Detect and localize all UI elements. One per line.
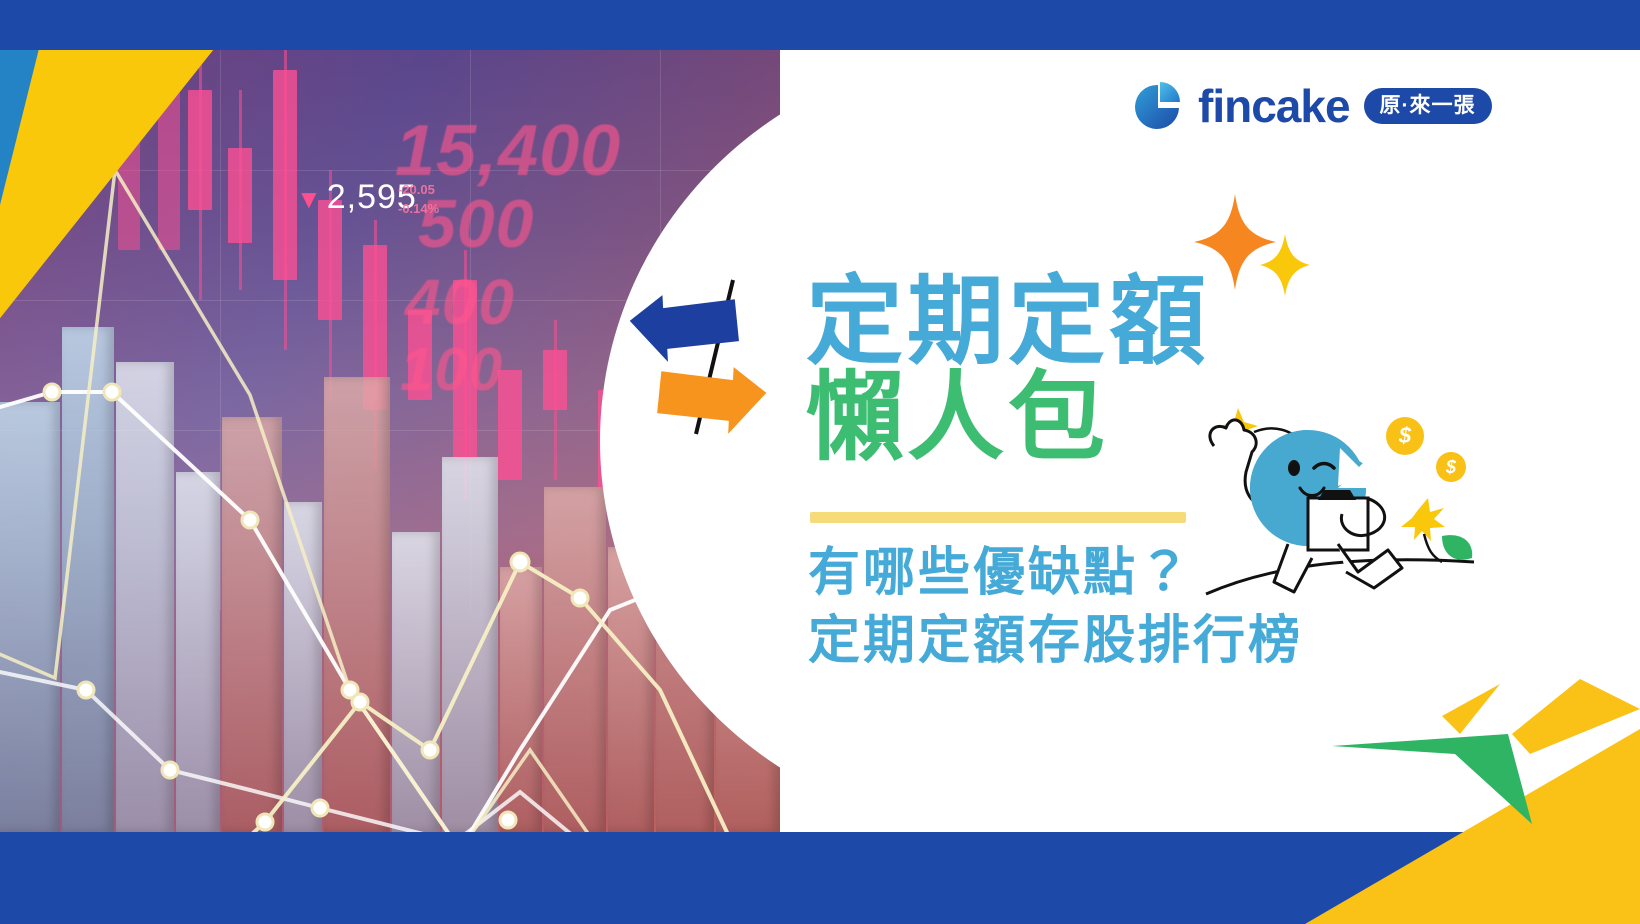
fincake-badge: 原·來一張 — [1364, 88, 1492, 124]
fincake-logo-mark-icon — [1128, 78, 1184, 134]
banner-canvas: 15,400 500 400 100 ▼2,595 -20.05 -0.14% — [0, 0, 1640, 924]
mascot-flower-icon — [1401, 498, 1472, 562]
coin-small: $ — [1436, 452, 1466, 482]
sparkle-small-icon — [1258, 232, 1312, 298]
arrow-left-icon — [629, 291, 740, 364]
title-underline — [810, 512, 1186, 523]
coin-large: $ — [1386, 417, 1424, 455]
page-title: 定期定額 懶人包 — [806, 274, 1210, 466]
fincake-logo[interactable]: fincake 原·來一張 — [1128, 78, 1492, 134]
fincake-wordmark: fincake — [1198, 83, 1350, 129]
fincake-mascot — [1196, 386, 1476, 616]
decor-bottom-right — [1260, 624, 1640, 924]
band-top — [0, 0, 1640, 50]
title-line-1: 定期定額 — [806, 274, 1210, 370]
subtitle-line-2: 定期定額存股排行榜 — [808, 608, 1303, 676]
two-way-arrows-icon — [618, 262, 778, 452]
title-line-2: 懶人包 — [806, 370, 1210, 466]
